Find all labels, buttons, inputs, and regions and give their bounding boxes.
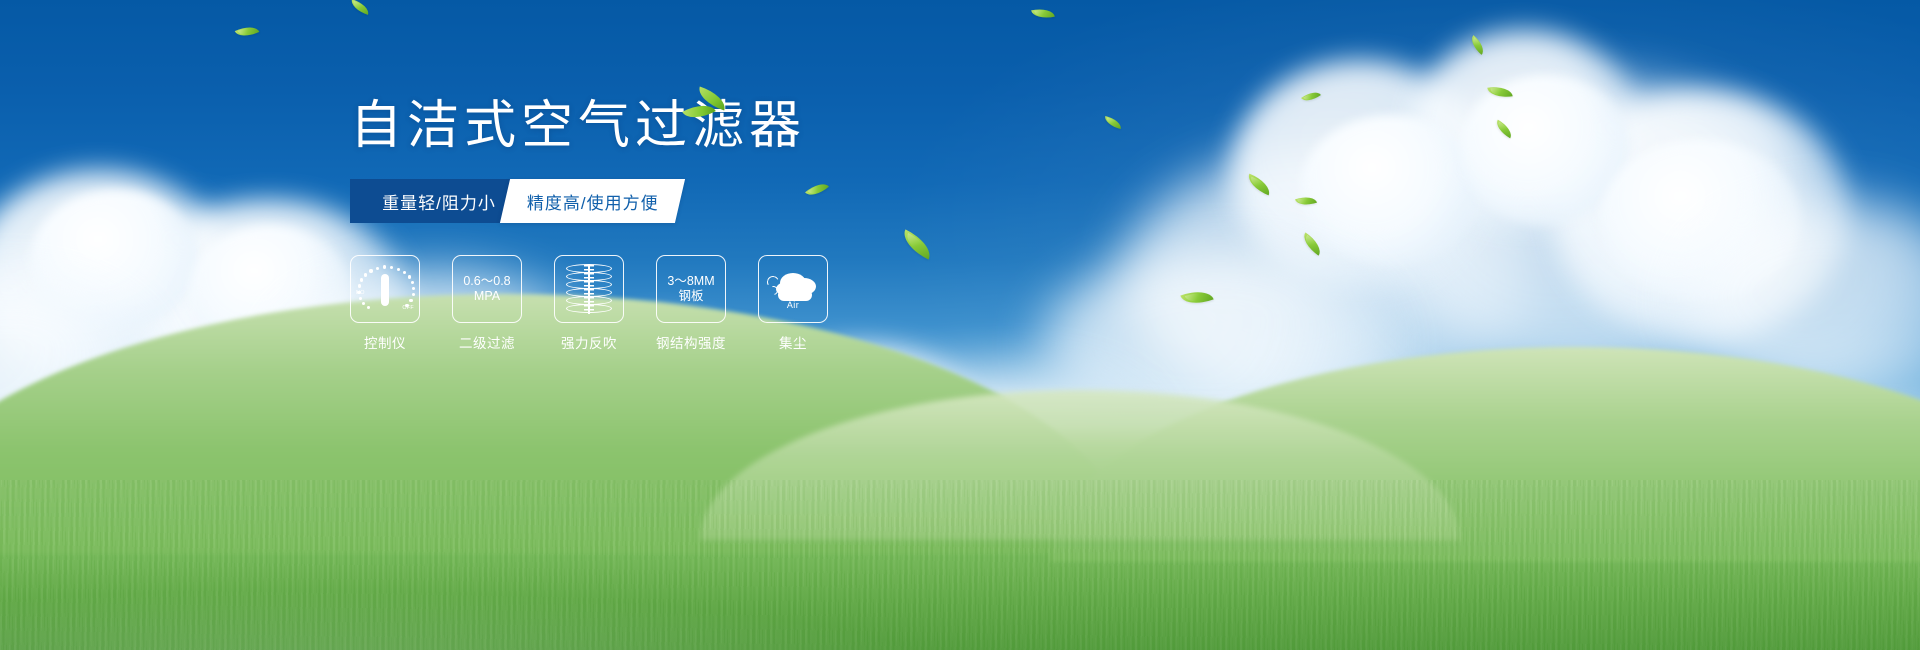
tab-label: 精度高/使用方便 [527,189,659,214]
feature-item-steel-strength[interactable]: 3〜8MM 钢板 钢结构强度 [656,255,726,352]
flying-leaf-icon [1467,35,1488,55]
flying-leaf-icon [1180,285,1213,309]
gauge-label-no: NO [356,290,365,296]
tab-group: 重量轻/阻力小 精度高/使用方便 [350,179,680,223]
dust-icon-label: Air [766,300,820,310]
pressure-value-line1: 0.6〜0.8 [463,274,510,290]
grass-shadow [0,560,1920,650]
feature-label: 钢结构强度 [656,332,726,352]
feature-icon-box: 0.6〜0.8 MPA [452,255,522,323]
feature-label: 二级过滤 [459,332,515,352]
feature-item-two-stage-filter[interactable]: 0.6〜0.8 MPA 二级过滤 [452,255,522,352]
hero-banner: 自洁式空气过滤器 重量轻/阻力小 精度高/使用方便 [0,0,1920,650]
steel-thickness-line1: 3〜8MM [667,274,714,290]
feature-icon-box [554,255,624,323]
feature-icon-box: 3〜8MM 钢板 [656,255,726,323]
flying-leaf-icon [349,0,371,15]
feature-item-dust-collection[interactable]: Air 集尘 [758,255,828,352]
grass-field [0,425,1920,650]
feature-list: NO OFF 控制仪 0.6〜0.8 MPA 二级过滤 [350,255,1110,352]
gauge-dial-icon: NO OFF [357,265,413,313]
page-title: 自洁式空气过滤器 [350,96,1110,157]
title-leaf-icon [682,88,728,122]
flying-leaf-icon [1245,174,1274,196]
feature-item-strong-backblow[interactable]: 强力反吹 [554,255,624,352]
feature-icon-box: Air [758,255,828,323]
flying-leaf-icon [1295,193,1317,209]
dust-cloud-icon: Air [766,267,820,311]
flying-leaf-icon [1493,120,1515,139]
steel-thickness-line2: 钢板 [678,289,703,305]
tab-label: 重量轻/阻力小 [382,189,496,214]
feature-icon-box: NO OFF [350,255,420,323]
feature-item-controller[interactable]: NO OFF 控制仪 [350,255,420,352]
flying-leaf-icon [235,22,260,41]
feature-label: 集尘 [779,332,807,352]
flying-leaf-icon [1299,232,1326,255]
pressure-value-line2: MPA [474,289,500,305]
flying-leaf-icon [1301,88,1321,106]
gauge-label-off: OFF [402,305,414,311]
flying-leaf-icon [1031,6,1055,21]
tab-highprecision-easyuse[interactable]: 精度高/使用方便 [500,179,685,223]
flying-leaf-icon [1487,84,1512,99]
feature-label: 强力反吹 [561,332,617,352]
coil-filter-icon [566,264,612,314]
banner-content: 自洁式空气过滤器 重量轻/阻力小 精度高/使用方便 [350,96,1110,352]
feature-label: 控制仪 [364,332,406,352]
